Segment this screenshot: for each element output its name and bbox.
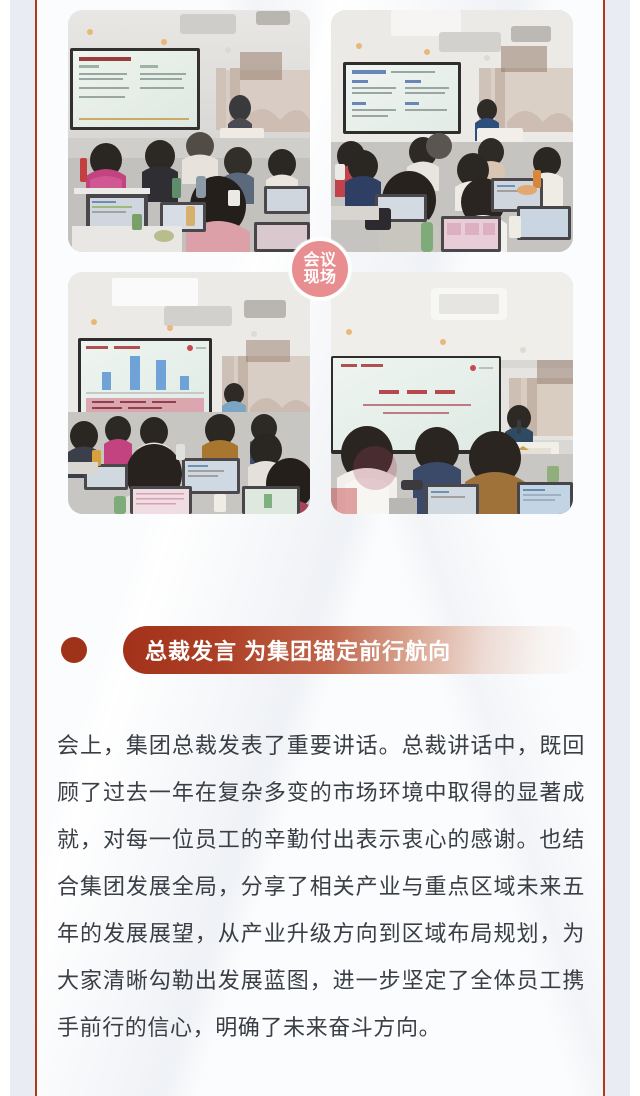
dot-primary-icon — [61, 637, 87, 663]
meeting-photo-3[interactable] — [68, 272, 310, 514]
section-title-pill: 总裁发言 为集团锚定前行航向 — [123, 626, 585, 674]
meeting-photo-2[interactable] — [331, 10, 573, 252]
article-page: 会议 现场 总裁发言 为集团锚定前行航向 会上，集团总裁发表了重要讲话。总裁讲话… — [0, 0, 640, 1096]
section-heading: 总裁发言 为集团锚定前行航向 — [55, 626, 585, 674]
right-decorative-band — [605, 0, 630, 1096]
body-paragraph: 会上，集团总裁发表了重要讲话。总裁讲话中，既回顾了过去一年在复杂多变的市场环境中… — [57, 722, 585, 1051]
meeting-photo-4[interactable] — [331, 272, 573, 514]
meeting-scene-badge: 会议 现场 — [289, 238, 351, 300]
photo-row-top — [68, 10, 573, 252]
content-panel: 会议 现场 总裁发言 为集团锚定前行航向 会上，集团总裁发表了重要讲话。总裁讲话… — [37, 0, 603, 1096]
section-title-text: 总裁发言 为集团锚定前行航向 — [123, 634, 451, 666]
left-decorative-band — [10, 0, 35, 1096]
badge-line-1: 会议 — [303, 252, 336, 269]
right-accent-rule — [603, 0, 605, 1096]
dual-dot-icon — [61, 637, 113, 663]
meeting-photo-1[interactable] — [68, 10, 310, 252]
badge-line-2: 现场 — [303, 269, 336, 286]
photo-row-bottom — [68, 272, 573, 514]
